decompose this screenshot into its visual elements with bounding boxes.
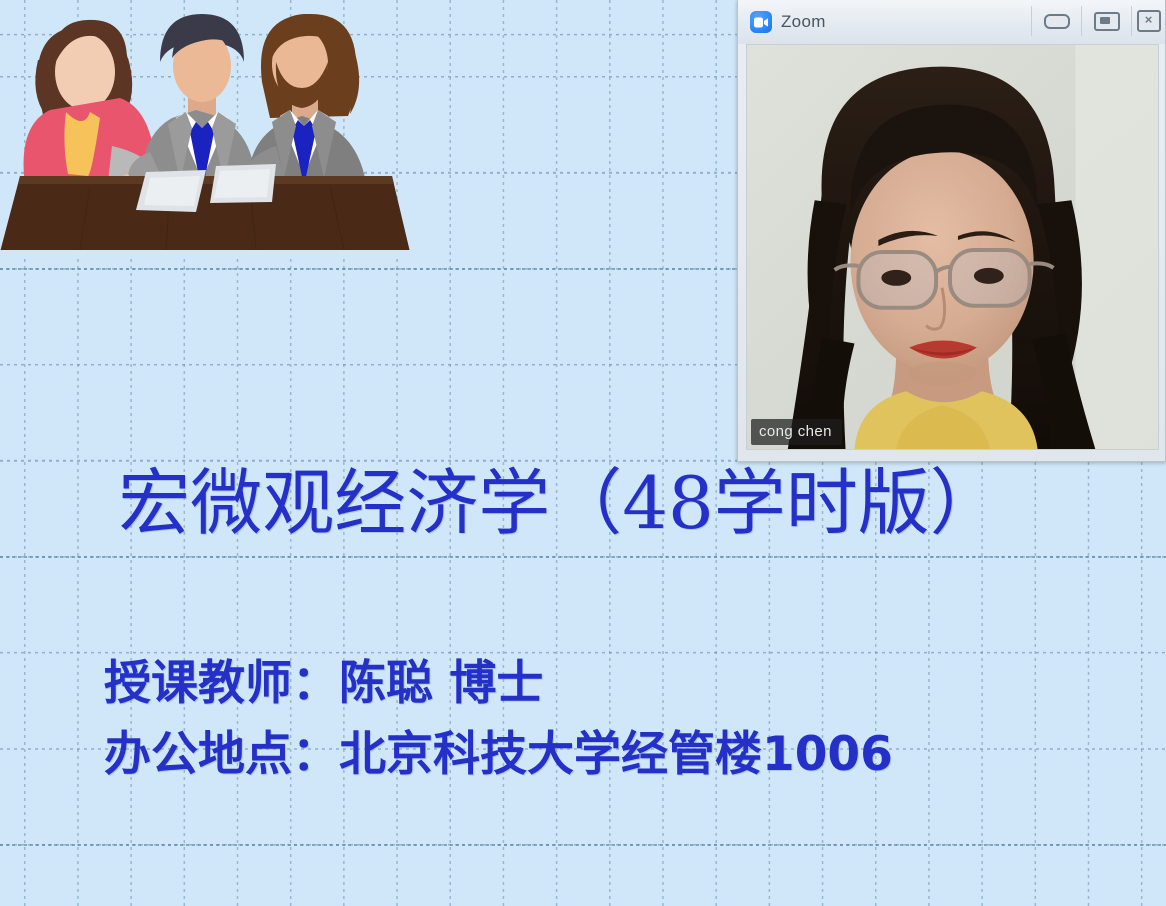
zoom-title-bar[interactable]: Zoom × (738, 0, 1165, 44)
zoom-window-controls[interactable]: × (1031, 6, 1165, 36)
zoom-video-icon (750, 11, 772, 33)
close-icon: × (1137, 10, 1161, 32)
zoom-window-title: Zoom (781, 12, 826, 32)
business-meeting-clipart (0, 0, 410, 258)
maximize-icon (1094, 12, 1120, 31)
slide-subtitle-block: 授课教师：陈聪 博士 办公地点：北京科技大学经管楼1006 (104, 648, 893, 791)
background-rule (0, 556, 1166, 558)
close-button[interactable]: × (1131, 6, 1165, 36)
office-location-line: 办公地点：北京科技大学经管楼1006 (104, 719, 893, 790)
minimize-icon (1044, 14, 1070, 29)
zoom-application-window[interactable]: Zoom × (737, 0, 1166, 462)
maximize-button[interactable] (1081, 6, 1131, 36)
instructor-line: 授课教师：陈聪 博士 (104, 648, 893, 719)
participant-name-label: cong chen (751, 419, 842, 445)
page-title: 宏微观经济学（48学时版） (0, 466, 1120, 542)
slide-stage: Zoom × (0, 0, 1166, 906)
zoom-video-feed[interactable]: cong chen (746, 44, 1159, 450)
minimize-button[interactable] (1031, 6, 1081, 36)
background-rule (0, 844, 1166, 846)
